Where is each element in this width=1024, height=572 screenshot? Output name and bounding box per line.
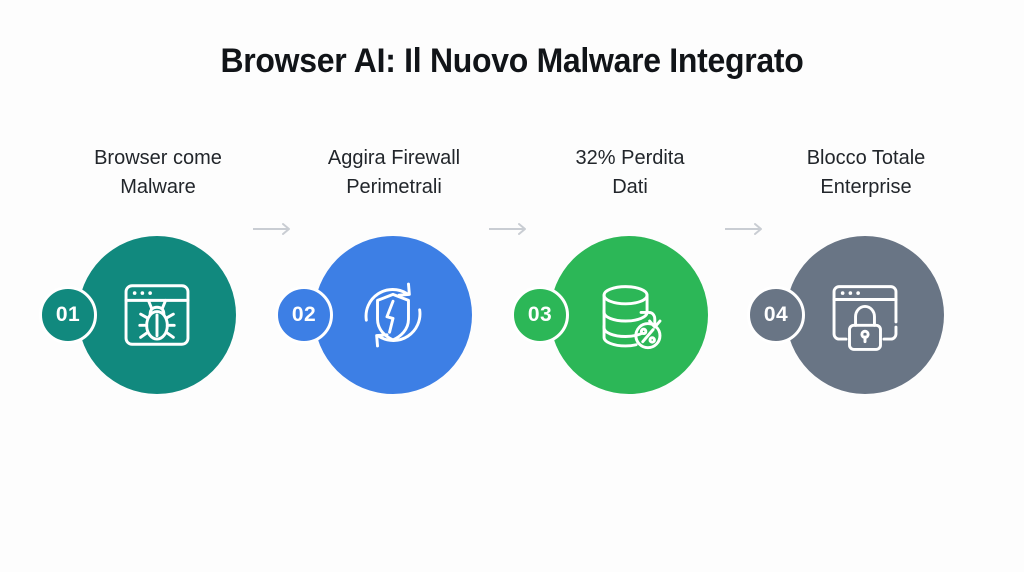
browser-lock-icon <box>822 272 908 358</box>
step-4-number-badge: 04 <box>747 286 805 344</box>
step-3-number-badge: 03 <box>511 286 569 344</box>
broken-shield-refresh-icon <box>350 272 436 358</box>
step-4-label-line1: Blocco Totale <box>761 144 971 173</box>
process-step-2: Aggira Firewall Perimetrali 02 <box>276 140 512 410</box>
step-2-number-badge: 02 <box>275 286 333 344</box>
step-4-label-line2: Enterprise <box>761 173 971 202</box>
connector-arrow-3-to-4 <box>725 222 769 236</box>
page-title: Browser AI: Il Nuovo Malware Integrato <box>31 42 994 81</box>
arrow-right-icon <box>489 222 533 236</box>
step-1-label: Browser come Malware <box>53 144 263 206</box>
process-step-4: Blocco Totale Enterprise <box>748 140 984 410</box>
step-1-circle-wrap: 01 <box>78 236 238 396</box>
step-1-label-line2: Malware <box>53 173 263 202</box>
arrow-right-icon <box>253 222 297 236</box>
process-step-3: 32% Perdita Dati <box>512 140 748 410</box>
process-steps: Browser come Malware <box>0 140 1024 410</box>
browser-bug-icon <box>114 272 200 358</box>
step-2-label-line2: Perimetrali <box>289 173 499 202</box>
step-2-label: Aggira Firewall Perimetrali <box>289 144 499 206</box>
connector-arrow-1-to-2 <box>253 222 297 236</box>
step-3-label-line1: 32% Perdita <box>525 144 735 173</box>
step-3-circle <box>550 236 708 394</box>
step-4-circle <box>786 236 944 394</box>
database-percent-icon <box>586 272 672 358</box>
step-3-circle-wrap: 03 <box>550 236 710 396</box>
step-3-label-line2: Dati <box>525 173 735 202</box>
step-1-label-line1: Browser come <box>53 144 263 173</box>
step-3-label: 32% Perdita Dati <box>525 144 735 206</box>
step-1-number-badge: 01 <box>39 286 97 344</box>
arrow-right-icon <box>725 222 769 236</box>
process-step-1: Browser come Malware <box>40 140 276 410</box>
step-1-circle <box>78 236 236 394</box>
infographic-canvas: Browser AI: Il Nuovo Malware Integrato B… <box>0 0 1024 572</box>
step-2-label-line1: Aggira Firewall <box>289 144 499 173</box>
step-4-circle-wrap: 04 <box>786 236 946 396</box>
step-2-circle-wrap: 02 <box>314 236 474 396</box>
step-4-label: Blocco Totale Enterprise <box>761 144 971 206</box>
connector-arrow-2-to-3 <box>489 222 533 236</box>
step-2-circle <box>314 236 472 394</box>
